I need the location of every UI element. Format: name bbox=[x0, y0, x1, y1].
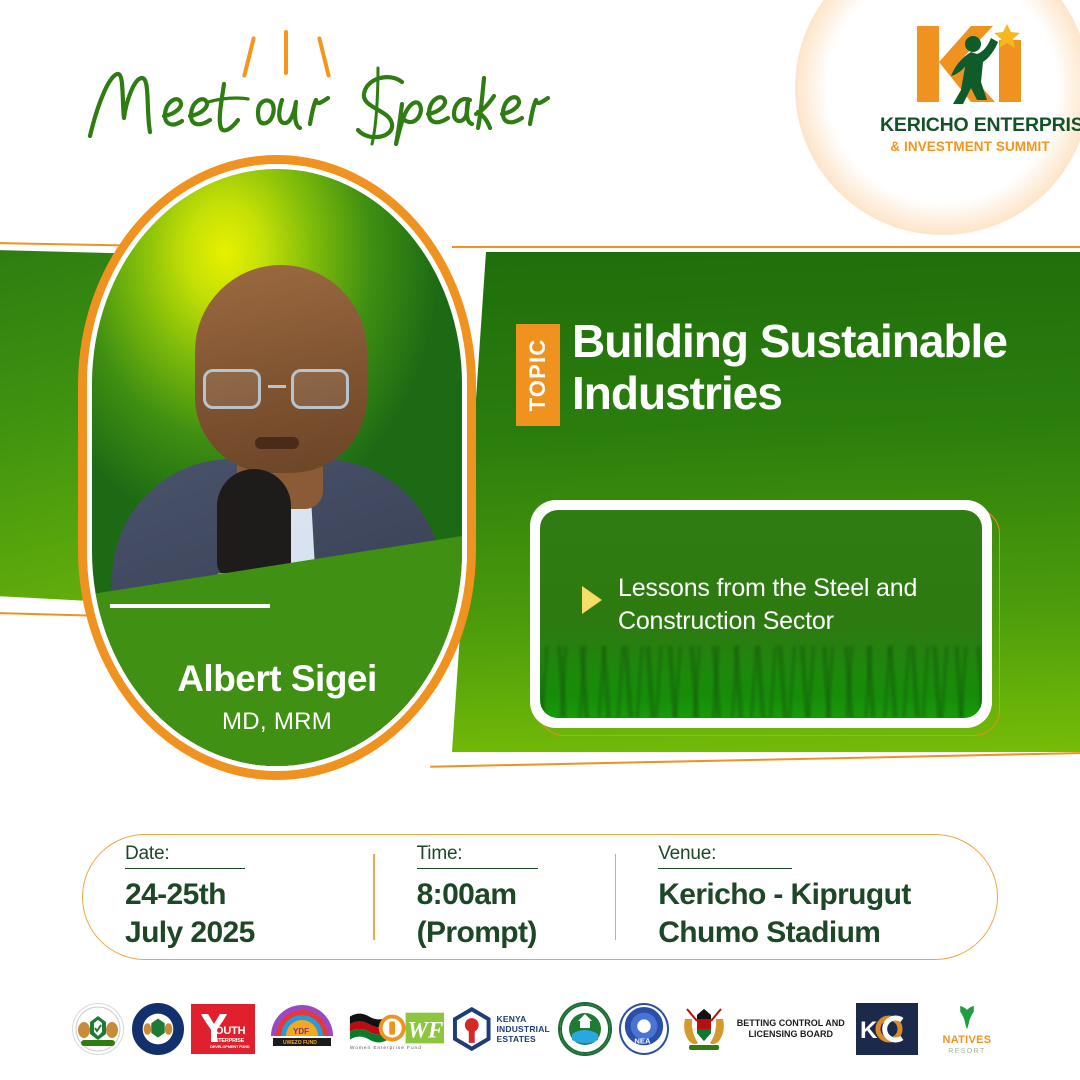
svg-text:OUTH: OUTH bbox=[215, 1025, 246, 1037]
sponsor-nea: NEA bbox=[619, 1000, 669, 1058]
info-time: Time: 8:00am (Prompt) bbox=[375, 843, 615, 950]
kenya-industrial-estates-icon: KENYAINDUSTRIALESTATES bbox=[452, 1006, 550, 1052]
sponsor-youth-enterprise-fund: OUTH ENTERPRISE DEVELOPMENT FUND bbox=[191, 1000, 255, 1058]
summit-logo: KERICHO ENTERPRISE & INVESTMENT SUMMIT bbox=[880, 18, 1060, 153]
photo-glasses-right bbox=[291, 369, 349, 409]
speaker-role: MD, MRM bbox=[92, 708, 462, 736]
sponsor-kdc: K bbox=[856, 1000, 918, 1058]
arrow-bullet-icon bbox=[582, 586, 602, 614]
photo-microphone-head bbox=[217, 469, 291, 577]
info-date-value: 24-25th July 2025 bbox=[125, 876, 373, 950]
info-date: Date: 24-25th July 2025 bbox=[83, 843, 373, 950]
university-of-kabianga-icon bbox=[558, 1002, 612, 1056]
speaker-card-inner: Albert Sigei MD, MRM bbox=[87, 164, 467, 771]
sponsor-coat-of-arms bbox=[72, 1000, 124, 1058]
topic-title: Building Sustainable Industries bbox=[572, 316, 1072, 419]
sponsor-senate-kenya bbox=[132, 1000, 184, 1058]
subtitle-card: Lessons from the Steel and Construction … bbox=[540, 510, 982, 718]
topic-badge: TOPIC bbox=[516, 324, 560, 426]
bclb-logo: BETTING CONTROL ANDLICENSING BOARD bbox=[677, 1003, 849, 1055]
nea-icon: NEA bbox=[619, 1003, 669, 1055]
subtitle-text: Lessons from the Steel and Construction … bbox=[618, 572, 958, 638]
sponsor-women-enterprise-fund: WF Women Enterprise Fund bbox=[348, 1000, 444, 1058]
logo-name: KERICHO ENTERPRISE bbox=[880, 116, 1060, 136]
info-time-label: Time: bbox=[417, 843, 539, 869]
photo-glasses-left bbox=[203, 369, 261, 409]
info-venue-value: Kericho - Kiprugut Chumo Stadium bbox=[658, 876, 996, 950]
youth-enterprise-fund-icon: OUTH ENTERPRISE DEVELOPMENT FUND bbox=[191, 1004, 255, 1054]
sponsor-kenya-industrial-estates: KENYAINDUSTRIALESTATES bbox=[452, 1000, 550, 1058]
sponsor-logo-strip: OUTH ENTERPRISE DEVELOPMENT FUND YDF UWE… bbox=[72, 998, 1008, 1060]
right-panel-accent-line-top bbox=[452, 246, 1080, 248]
photo-mouth bbox=[255, 437, 299, 449]
kdc-icon: K bbox=[856, 1003, 918, 1055]
meet-our-speaker-headline bbox=[72, 58, 492, 148]
kenya-coat-of-arms-icon bbox=[677, 1003, 731, 1055]
info-date-label: Date: bbox=[125, 843, 245, 869]
logo-mark-icon bbox=[903, 18, 1038, 108]
sponsor-natives-resort: NATIVES RESORT bbox=[926, 1000, 1008, 1058]
info-venue: Venue: Kericho - Kiprugut Chumo Stadium bbox=[616, 843, 996, 950]
info-venue-label: Venue: bbox=[658, 843, 792, 869]
svg-text:Women Enterprise Fund: Women Enterprise Fund bbox=[350, 1045, 422, 1051]
svg-text:K: K bbox=[860, 1017, 878, 1044]
svg-text:YDF: YDF bbox=[293, 1027, 309, 1036]
natives-name: NATIVES bbox=[942, 1034, 991, 1046]
svg-text:DEVELOPMENT FUND: DEVELOPMENT FUND bbox=[210, 1044, 250, 1049]
photo-glasses-bridge bbox=[268, 385, 286, 388]
kie-label: KENYAINDUSTRIALESTATES bbox=[496, 1014, 549, 1045]
logo-subtitle: & INVESTMENT SUMMIT bbox=[880, 140, 1060, 154]
natives-resort-logo: NATIVES RESORT bbox=[926, 1003, 1008, 1055]
sponsor-uwezo-fund: YDF UWEZO FUND bbox=[263, 1000, 341, 1058]
coat-of-arms-icon bbox=[72, 1003, 124, 1055]
info-time-value: 8:00am (Prompt) bbox=[417, 876, 615, 950]
event-info-bar: Date: 24-25th July 2025 Time: 8:00am (Pr… bbox=[82, 834, 998, 960]
grass-texture bbox=[540, 646, 982, 718]
speaker-portrait-card: Albert Sigei MD, MRM bbox=[78, 155, 476, 780]
sponsor-university-of-kabianga bbox=[558, 1000, 612, 1058]
svg-text:NEA: NEA bbox=[635, 1036, 652, 1045]
right-panel-accent-line-bottom bbox=[430, 752, 1080, 768]
sponsor-betting-control-licensing-board: BETTING CONTROL ANDLICENSING BOARD bbox=[677, 1000, 849, 1058]
women-enterprise-fund-icon: WF Women Enterprise Fund bbox=[348, 1006, 444, 1052]
senate-kenya-icon bbox=[132, 1003, 184, 1055]
speaker-name: Albert Sigei bbox=[92, 658, 462, 700]
svg-text:UWEZO FUND: UWEZO FUND bbox=[283, 1040, 317, 1046]
uwezo-fund-icon: YDF UWEZO FUND bbox=[263, 1002, 341, 1057]
spark-line-icon bbox=[284, 30, 288, 75]
natives-subtitle: RESORT bbox=[948, 1048, 985, 1055]
bclb-label: BETTING CONTROL ANDLICENSING BOARD bbox=[737, 1018, 845, 1041]
nameplate-rule bbox=[110, 604, 270, 608]
topic-badge-label: TOPIC bbox=[525, 339, 551, 412]
svg-text:WF: WF bbox=[408, 1017, 444, 1043]
natives-leaf-icon bbox=[952, 1003, 982, 1032]
